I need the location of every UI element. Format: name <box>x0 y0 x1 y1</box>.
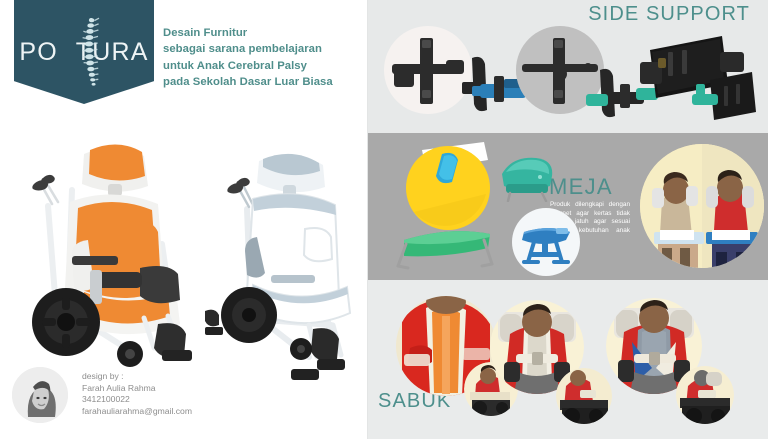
meja-photos-svg <box>640 144 764 268</box>
logo-badge: POSTURA <box>14 0 154 104</box>
credit-id: 3412100022 <box>82 394 312 406</box>
sabuk-child-side-3 <box>676 366 734 424</box>
meja-heading: MEJA <box>549 174 613 200</box>
credit-text: design by : Farah Aulia Rahma 3412100022… <box>82 371 312 417</box>
side-support-item-3 <box>636 22 766 132</box>
spine-icon <box>77 16 103 88</box>
tagline-block: Desain Furnitur sebagai sarana pembelaja… <box>163 25 358 90</box>
meja-blue-desk <box>512 208 580 276</box>
sabuk-child-side-2 <box>556 368 612 424</box>
credit-name: Farah Aulia Rahma <box>82 383 312 395</box>
credit-label: design by : <box>82 371 312 383</box>
tagline-line-3: untuk Anak Cerebral Palsy <box>163 58 358 74</box>
tagline-line-1: Desain Furnitur <box>163 25 358 41</box>
logo-prefix: PO <box>19 38 58 66</box>
left-panel: POSTURA <box>0 0 368 439</box>
wheelchair-blue-photo <box>205 133 363 386</box>
wheelchair-orange-photo <box>12 118 194 368</box>
right-column: SIDE SUPPORT <box>368 0 768 439</box>
tagline-line-2: sebagai sarana pembelajaran <box>163 41 358 57</box>
poster-canvas: POSTURA <box>0 0 768 439</box>
meja-clip-holder <box>496 152 558 202</box>
avatar-portrait <box>12 367 68 423</box>
tagline-line-4: pada Sekolah Dasar Luar Biasa <box>163 74 358 90</box>
credit-email: farahauliarahma@gmail.com <box>82 406 312 418</box>
meja-photo-pair <box>640 144 764 268</box>
designer-avatar <box>12 367 68 423</box>
